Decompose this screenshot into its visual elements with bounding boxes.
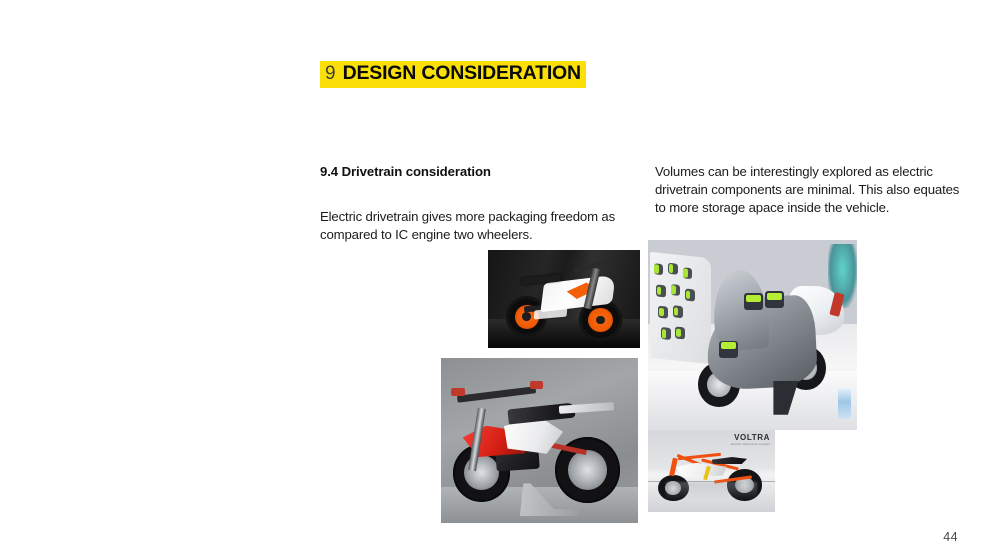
water-bottle xyxy=(838,388,851,418)
voltra-wordmark-subtitle: electric motorcycle concept xyxy=(731,444,770,447)
section-heading: 9 DESIGN CONSIDERATION xyxy=(320,61,586,88)
right-column-paragraph: Volumes can be interestingly explored as… xyxy=(655,163,965,218)
figure-ktm-e-speed xyxy=(488,250,640,348)
page-number: 44 xyxy=(943,530,958,544)
figure-red-electric-supermoto xyxy=(441,358,638,523)
voltra-wordmark: VOLTRA xyxy=(731,434,770,442)
gogoro-battery-pack xyxy=(765,291,784,308)
red-bike-handlebar xyxy=(457,386,536,402)
subsection-heading: 9.4 Drivetrain consideration xyxy=(320,163,640,180)
battery-slot xyxy=(671,284,681,297)
battery-slot xyxy=(659,306,669,319)
battery-slot xyxy=(685,289,695,302)
battery-slot xyxy=(668,262,678,275)
right-column: Volumes can be interestingly explored as… xyxy=(655,163,965,218)
figure-gogoro-smartscooter xyxy=(648,240,857,430)
battery-slot xyxy=(654,263,664,276)
ktm-front-hub xyxy=(588,308,613,332)
red-bike-right-grip xyxy=(530,381,544,389)
battery-slot xyxy=(661,328,671,341)
section-title: DESIGN CONSIDERATION xyxy=(343,64,581,84)
voltra-wordmark-block: VOLTRA electric motorcycle concept xyxy=(731,434,770,447)
section-number: 9 xyxy=(325,64,336,83)
figure-voltra-concept: VOLTRA electric motorcycle concept xyxy=(648,430,775,512)
gogoro-battery-pack xyxy=(719,341,738,358)
left-column-paragraph: Electric drivetrain gives more packaging… xyxy=(320,208,640,244)
gogoro-battery-pack xyxy=(744,293,763,310)
voltra-seat xyxy=(712,457,748,464)
battery-slot xyxy=(676,327,686,340)
gogoro-battery-rack xyxy=(650,252,711,365)
red-bike-left-grip xyxy=(451,388,465,396)
document-page: 9 DESIGN CONSIDERATION 9.4 Drivetrain co… xyxy=(0,0,1000,560)
battery-slot xyxy=(656,285,666,298)
voltra-floor-reflection xyxy=(666,482,757,500)
left-column: 9.4 Drivetrain consideration Electric dr… xyxy=(320,163,640,245)
battery-slot xyxy=(673,305,683,318)
battery-slot xyxy=(683,267,693,280)
